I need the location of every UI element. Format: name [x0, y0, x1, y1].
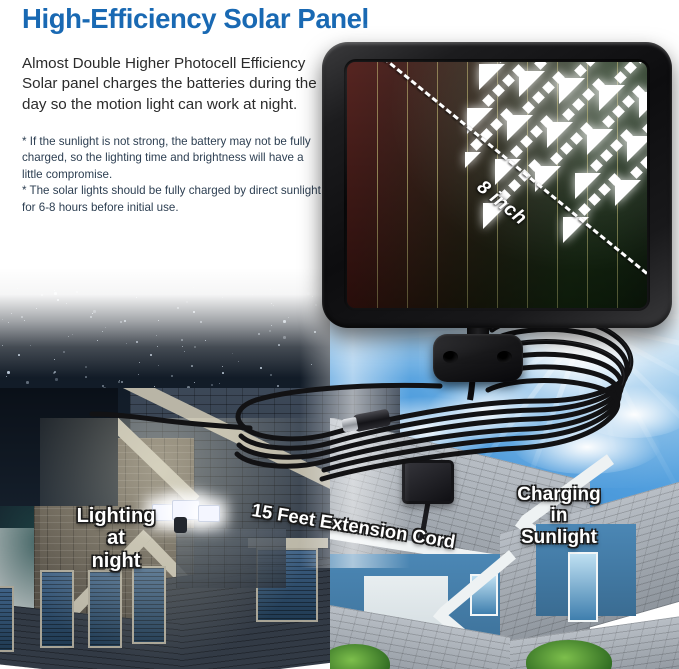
- panel-cell-surface: 8 inch: [347, 62, 647, 308]
- caption-line: Charging: [494, 484, 624, 505]
- info-block: High-Efficiency Solar Panel Almost Doubl…: [22, 4, 342, 216]
- star: [26, 381, 29, 384]
- fineprint-notes: * If the sunlight is not strong, the bat…: [22, 134, 322, 216]
- star: [118, 381, 120, 383]
- page-title: High-Efficiency Solar Panel: [22, 4, 342, 34]
- caption-line: Lighting: [46, 505, 186, 527]
- bracket-screw-hole: [443, 351, 458, 363]
- busbar-line: [587, 62, 588, 308]
- star: [277, 385, 279, 387]
- fineprint-note-1: * If the sunlight is not strong, the bat…: [22, 134, 322, 183]
- busbar-line: [377, 62, 378, 308]
- star: [219, 383, 220, 384]
- mounting-bracket: [433, 324, 523, 382]
- star: [194, 382, 195, 383]
- caption-line: Sunlight: [494, 527, 624, 548]
- busbar-line: [557, 62, 558, 308]
- star: [102, 385, 104, 387]
- caption-line: night: [46, 550, 186, 572]
- star: [154, 386, 155, 387]
- star: [211, 384, 213, 386]
- busbar-line: [617, 62, 618, 308]
- panel-frame: 8 inch: [322, 42, 672, 328]
- lead-paragraph: Almost Double Higher Photocell Efficienc…: [22, 54, 330, 115]
- star: [55, 378, 58, 381]
- product-infographic: High-Efficiency Solar Panel Almost Doubl…: [0, 0, 679, 669]
- bracket-plate: [433, 334, 523, 382]
- star: [121, 381, 123, 383]
- caption-charging-in-sunlight: Charging in Sunlight: [494, 484, 624, 548]
- caption-lighting-at-night: Lighting at night: [46, 505, 186, 572]
- bracket-screw-hole: [497, 351, 512, 363]
- caption-line: at: [46, 527, 186, 549]
- solar-panel-hero: 8 inch: [322, 42, 676, 334]
- busbar-line: [407, 62, 408, 308]
- busbar-line: [437, 62, 438, 308]
- busbar-line: [467, 62, 468, 308]
- busbar-line: [527, 62, 528, 308]
- fineprint-note-2: * The solar lights should be fully charg…: [22, 183, 322, 216]
- caption-line: in: [494, 505, 624, 526]
